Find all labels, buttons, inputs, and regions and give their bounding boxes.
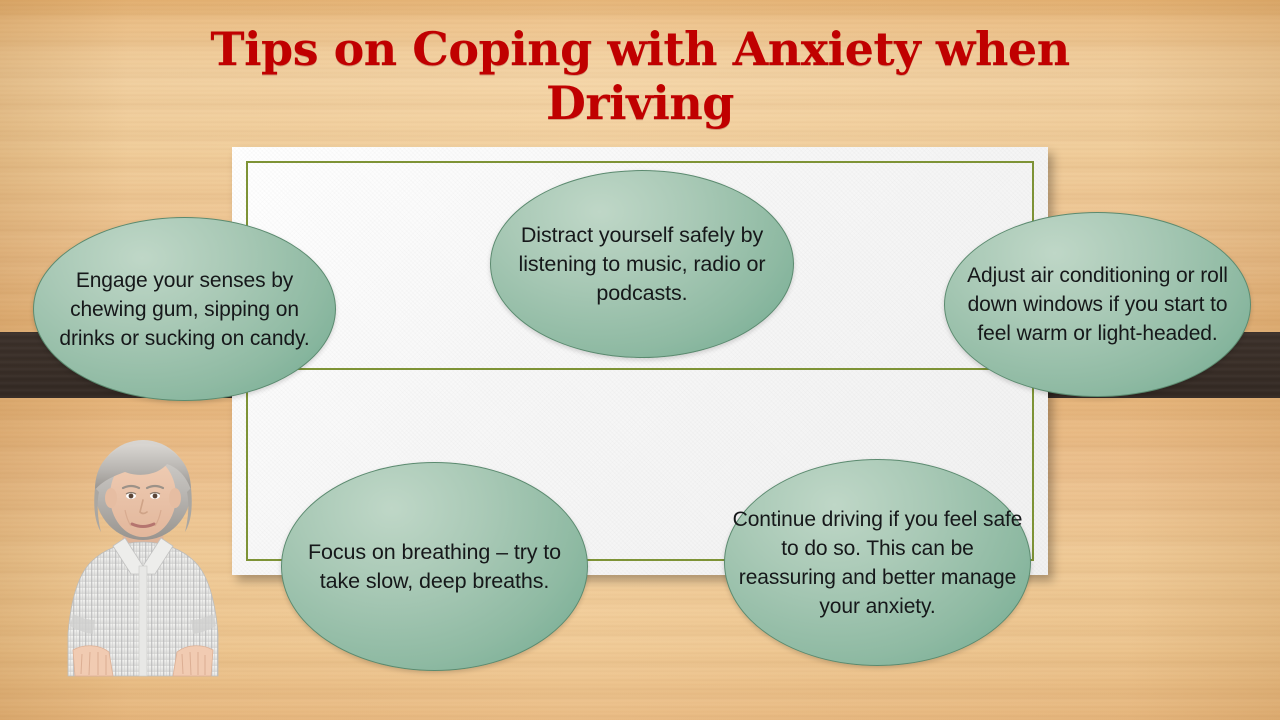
tip-bubble-breathing[interactable]: Focus on breathing – try to take slow, d… xyxy=(281,462,588,671)
tip-bubble-continue-driving[interactable]: Continue driving if you feel safe to do … xyxy=(724,459,1031,666)
tip-bubble-distract-text: Distract yourself safely by listening to… xyxy=(491,221,793,308)
tip-bubble-air-conditioning[interactable]: Adjust air conditioning or roll down win… xyxy=(944,212,1251,397)
tip-bubble-senses-text: Engage your senses by chewing gum, sippi… xyxy=(34,266,335,353)
slide-title: Tips on Coping with Anxiety when Driving xyxy=(180,22,1100,130)
tip-bubble-distract[interactable]: Distract yourself safely by listening to… xyxy=(490,170,794,358)
tip-bubble-breathing-text: Focus on breathing – try to take slow, d… xyxy=(282,538,587,596)
elderly-woman-photo xyxy=(55,438,231,678)
tip-bubble-senses[interactable]: Engage your senses by chewing gum, sippi… xyxy=(33,217,336,401)
tip-bubble-air-conditioning-text: Adjust air conditioning or roll down win… xyxy=(945,261,1250,348)
slide-canvas: Tips on Coping with Anxiety when Driving xyxy=(0,0,1280,720)
panel-divider-line xyxy=(246,368,1034,370)
tip-bubble-continue-driving-text: Continue driving if you feel safe to do … xyxy=(725,505,1030,621)
